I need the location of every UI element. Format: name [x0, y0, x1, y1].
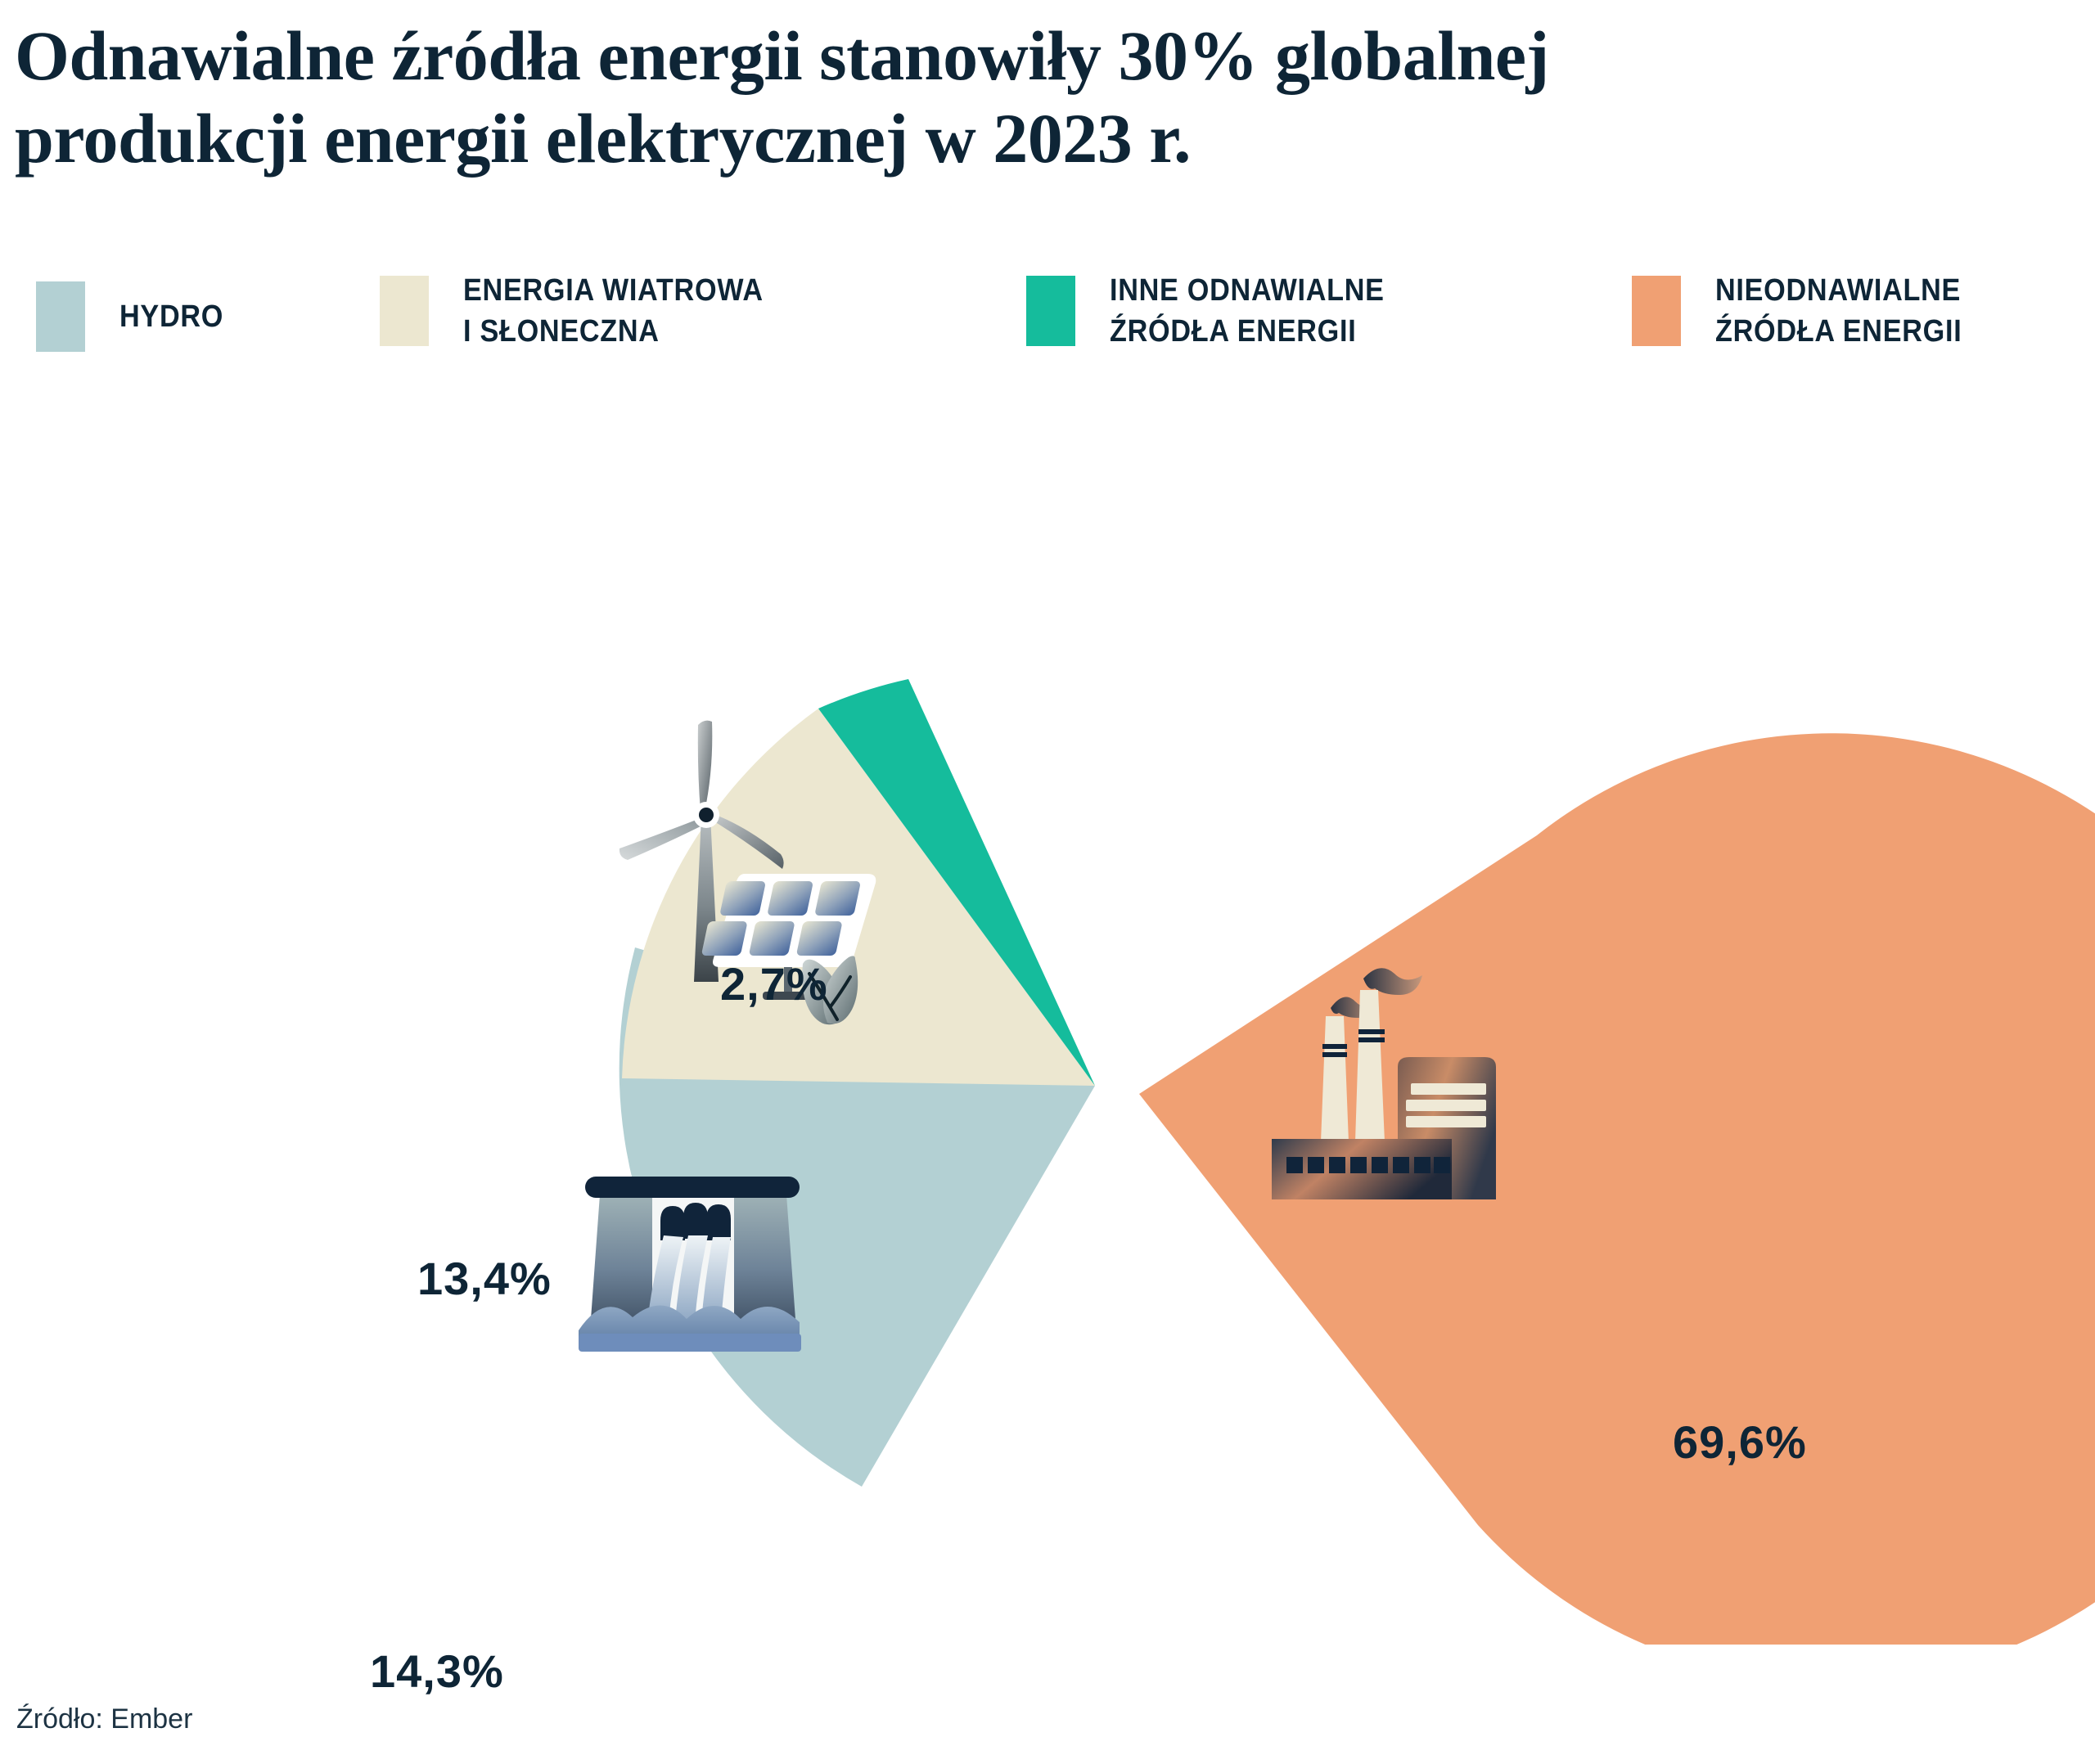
value-label-wind-solar: 13,4%: [417, 1252, 552, 1305]
legend-label-non-renewable: NIEODNAWIALNE ŹRÓDŁA ENERGII: [1715, 270, 1962, 352]
legend-swatch-hydro: [36, 281, 85, 352]
legend-label-hydro: HYDRO: [119, 296, 223, 337]
infographic-page: Odnawialne źródła energii stanowiły 30% …: [0, 0, 2095, 1764]
source-note: Źródło: Ember: [16, 1703, 192, 1735]
legend-item-hydro[interactable]: HYDRO: [36, 281, 235, 352]
legend-label-wind-solar: ENERGIA WIATROWA I SŁONECZNA: [463, 270, 764, 352]
pie-chart: 14,3% 13,4% 2,7% 69,6%: [0, 352, 2095, 1645]
legend-label-other-renewable: INNE ODNAWIALNE ŹRÓDŁA ENERGII: [1110, 270, 1385, 352]
legend-item-wind-solar[interactable]: ENERGIA WIATROWA I SŁONECZNA: [380, 270, 797, 352]
legend-item-non-renewable[interactable]: NIEODNAWIALNE ŹRÓDŁA ENERGII: [1632, 270, 1989, 352]
legend-swatch-other-renewable: [1026, 276, 1075, 346]
legend-swatch-non-renewable: [1632, 276, 1681, 346]
value-label-non-renewable: 69,6%: [1673, 1415, 1807, 1469]
hydro-dam-icon: [579, 1177, 801, 1352]
legend-item-other-renewable[interactable]: INNE ODNAWIALNE ŹRÓDŁA ENERGII: [1026, 270, 1415, 352]
legend-swatch-wind-solar: [380, 276, 429, 346]
value-label-other-renewable: 2,7%: [720, 957, 828, 1010]
page-title: Odnawialne źródła energii stanowiły 30% …: [15, 15, 2061, 181]
value-label-hydro: 14,3%: [370, 1645, 504, 1698]
